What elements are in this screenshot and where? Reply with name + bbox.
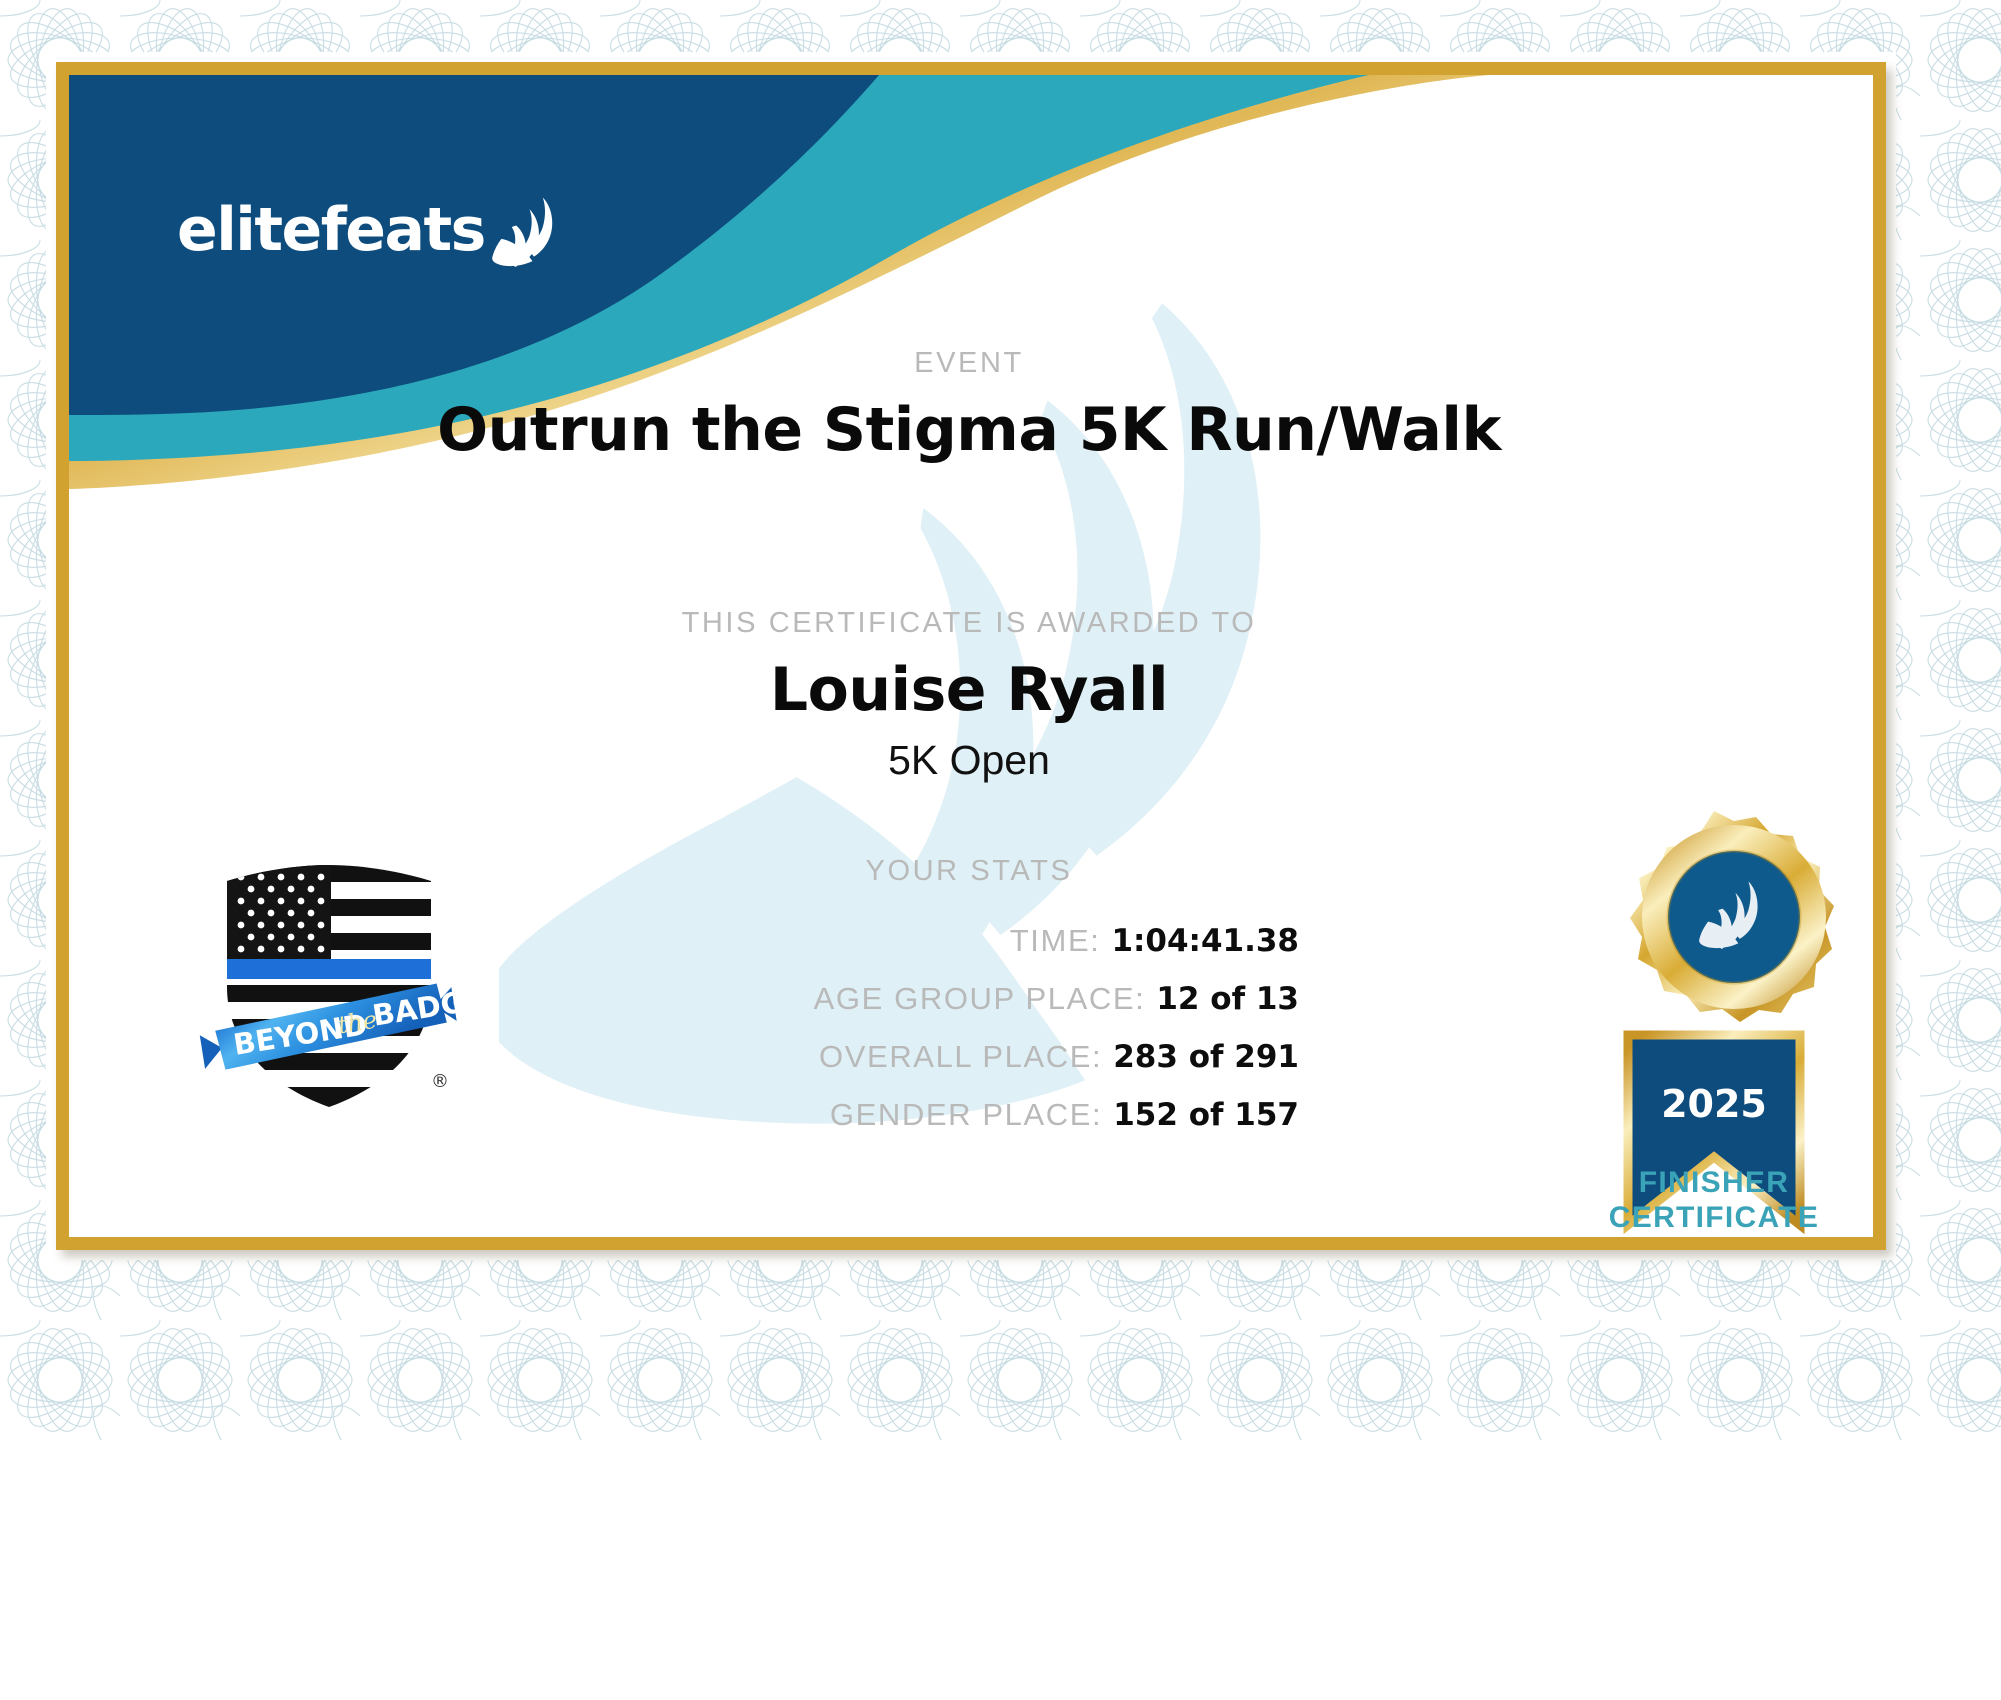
stat-key-age-group-place: AGE GROUP PLACE: bbox=[814, 981, 1146, 1017]
medal-year: 2025 bbox=[1661, 1082, 1767, 1126]
stat-key-gender-place: GENDER PLACE: bbox=[830, 1097, 1102, 1133]
stat-key-overall-place: OVERALL PLACE: bbox=[819, 1039, 1102, 1075]
stat-row-overall-place: OVERALL PLACE: 283 of 291 bbox=[399, 1039, 1539, 1075]
medal-rosette-disc bbox=[1630, 811, 1834, 1022]
finisher-caption-line2: CERTIFICATE bbox=[1539, 1200, 1873, 1235]
winged-foot-icon bbox=[491, 193, 565, 267]
event-name: Outrun the Stigma 5K Run/Walk bbox=[279, 397, 1659, 463]
event-label: EVENT bbox=[379, 347, 1559, 380]
beyond-the-badge-shield-logo: BEYOND the BADGE ® bbox=[199, 855, 459, 1115]
stat-value-age-group-place: 12 of 13 bbox=[1156, 981, 1299, 1017]
your-stats-label: YOUR STATS bbox=[379, 855, 1559, 888]
stats-table: TIME: 1:04:41.38 AGE GROUP PLACE: 12 of … bbox=[399, 923, 1539, 1155]
recipient-name: Louise Ryall bbox=[379, 655, 1559, 725]
certificate-page: elitefeats EVENT Outrun the Stigma 5K Ru… bbox=[0, 0, 2001, 1700]
stat-value-overall-place: 283 of 291 bbox=[1113, 1039, 1299, 1075]
certificate-body: elitefeats EVENT Outrun the Stigma 5K Ru… bbox=[69, 75, 1873, 1237]
stat-value-time: 1:04:41.38 bbox=[1111, 923, 1299, 959]
elitefeats-logo: elitefeats bbox=[177, 193, 565, 267]
brand-wordmark: elitefeats bbox=[177, 200, 485, 260]
stat-row-time: TIME: 1:04:41.38 bbox=[399, 923, 1539, 959]
recipient-division: 5K Open bbox=[379, 737, 1559, 784]
stat-row-age-group-place: AGE GROUP PLACE: 12 of 13 bbox=[399, 981, 1539, 1017]
stat-value-gender-place: 152 of 157 bbox=[1113, 1097, 1299, 1133]
finisher-certificate-caption: FINISHER CERTIFICATE bbox=[1539, 1165, 1873, 1236]
stat-key-time: TIME: bbox=[1010, 923, 1101, 959]
registered-trademark-icon: ® bbox=[431, 1071, 449, 1092]
gold-frame: elitefeats EVENT Outrun the Stigma 5K Ru… bbox=[56, 62, 1886, 1250]
awarded-to-label: THIS CERTIFICATE IS AWARDED TO bbox=[379, 607, 1559, 640]
finisher-caption-line1: FINISHER bbox=[1539, 1165, 1873, 1200]
stat-row-gender-place: GENDER PLACE: 152 of 157 bbox=[399, 1097, 1539, 1133]
